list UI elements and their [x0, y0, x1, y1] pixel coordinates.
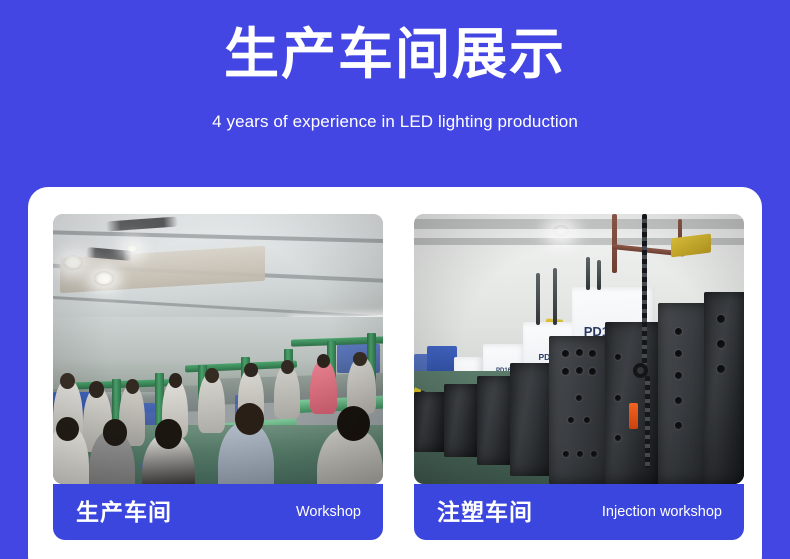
tile-label-en: Injection workshop [602, 505, 722, 520]
photo-vignette [53, 214, 383, 484]
banner-header: 生产车间展示 4 years of experience in LED ligh… [0, 0, 790, 186]
tile-label-bar: 注塑车间 Injection workshop [414, 484, 744, 540]
workshop-photo [53, 214, 383, 484]
injection-photo: PD16 PD168 Servo PD168 Servo energy PD16… [414, 214, 744, 484]
workshop-photo-scene [53, 214, 383, 484]
photo-vignette [414, 214, 744, 484]
injection-photo-scene: PD16 PD168 Servo PD168 Servo energy PD16… [414, 214, 744, 484]
page-subtitle: 4 years of experience in LED lighting pr… [0, 112, 790, 132]
gallery-tile-production-workshop[interactable]: 生产车间 Workshop [53, 214, 383, 484]
tile-label-cn: 生产车间 [76, 501, 172, 524]
gallery-card: 生产车间 Workshop [28, 187, 762, 559]
promo-banner: 生产车间展示 4 years of experience in LED ligh… [0, 0, 790, 559]
page-title: 生产车间展示 [0, 24, 790, 85]
tile-label-cn: 注塑车间 [437, 501, 533, 524]
gallery-row: 生产车间 Workshop [53, 214, 737, 484]
gallery-tile-injection-workshop[interactable]: PD16 PD168 Servo PD168 Servo energy PD16… [414, 214, 744, 484]
tile-label-bar: 生产车间 Workshop [53, 484, 383, 540]
tile-label-en: Workshop [296, 505, 361, 520]
